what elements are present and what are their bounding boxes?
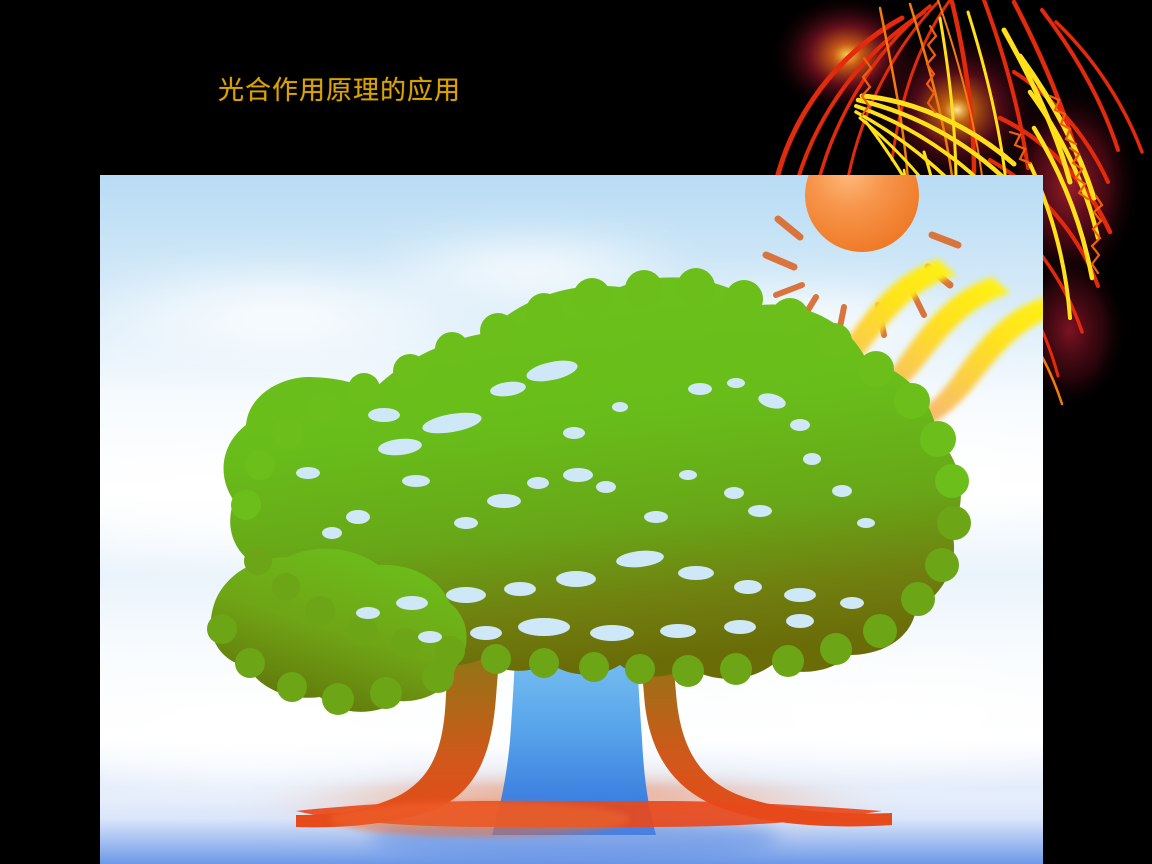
glow-blob (862, 25, 1052, 195)
glow-blob (769, 0, 925, 117)
photosynthesis-illustration (100, 175, 1043, 864)
presentation-slide: 光合作用原理的应用 (0, 0, 1152, 864)
page-title: 光合作用原理的应用 (218, 74, 461, 108)
